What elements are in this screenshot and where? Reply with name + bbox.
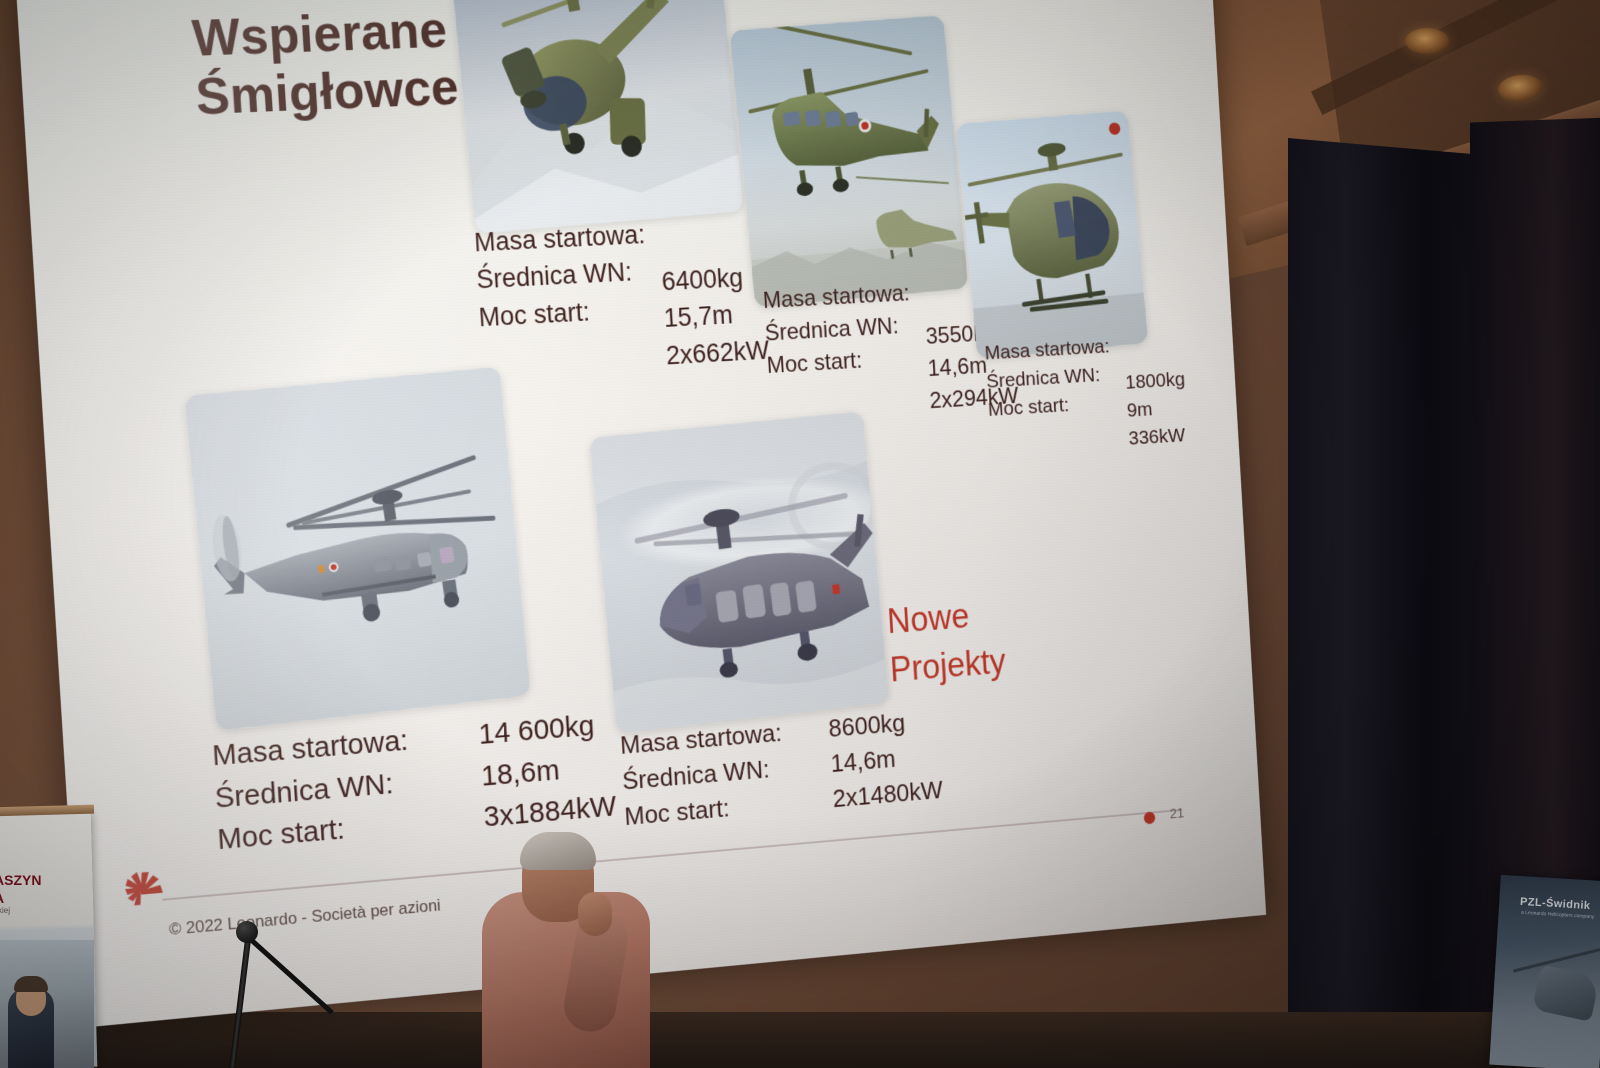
banner-left-line2: A xyxy=(0,890,4,906)
spec-value-masa: 1800kg xyxy=(1125,366,1186,397)
presenter-hair xyxy=(520,832,596,870)
banner-left-line1: ASZYN xyxy=(0,872,41,888)
helicopter-photo-aw149 xyxy=(589,411,889,734)
spec-label-moc: Moc start: xyxy=(766,342,914,383)
spec-value-srednica: 15,7m xyxy=(663,295,768,337)
spec-value-masa: 6400kg xyxy=(661,258,766,300)
spec-label-moc: Moc start: xyxy=(478,290,651,336)
spec-value-moc: 2x662kW xyxy=(665,331,770,374)
spec-value-moc: 336kW xyxy=(1128,421,1189,453)
spec-block-aw101: Masa startowa: Średnica WN: Moc start: 1… xyxy=(211,720,414,861)
recessed-light-icon xyxy=(1405,28,1449,54)
banner-left-person-hair xyxy=(14,976,48,992)
leonardo-pinwheel-logo xyxy=(113,859,169,917)
helicopter-photo-mi2 xyxy=(729,15,968,308)
nowe-projekty-line1: Nowe xyxy=(886,589,1004,646)
presenter-hand xyxy=(578,892,612,936)
spec-block-w3-sokol: Masa startowa: Średnica WN: Moc start: 6… xyxy=(473,216,651,336)
photo-of-conference-room-presentation: Wspierane Śmigłowce xyxy=(0,0,1600,1068)
slide-number-dot xyxy=(1144,811,1156,824)
nowe-projekty-label: Nowe Projekty xyxy=(886,589,1007,694)
helicopter-photo-aw101 xyxy=(184,367,531,731)
presenter xyxy=(470,800,670,1068)
nowe-projekty-line2: Projekty xyxy=(889,637,1007,694)
banner-left-line3: skiej xyxy=(0,906,10,915)
spec-block-sw4: Masa startowa: Średnica WN: Moc start: 1… xyxy=(984,333,1114,424)
spec-value-srednica: 9m xyxy=(1126,393,1187,424)
slide-number: 21 xyxy=(1169,805,1184,822)
helicopter-photo-w3-sokol xyxy=(448,0,744,234)
spec-block-mi2: Masa startowa: Średnica WN: Moc start: 3… xyxy=(762,277,914,382)
microphone-icon xyxy=(236,921,258,943)
helicopter-photo-sw4 xyxy=(956,110,1149,359)
copyright-text: © 2022 Leonardo - Società per azioni xyxy=(168,896,441,940)
